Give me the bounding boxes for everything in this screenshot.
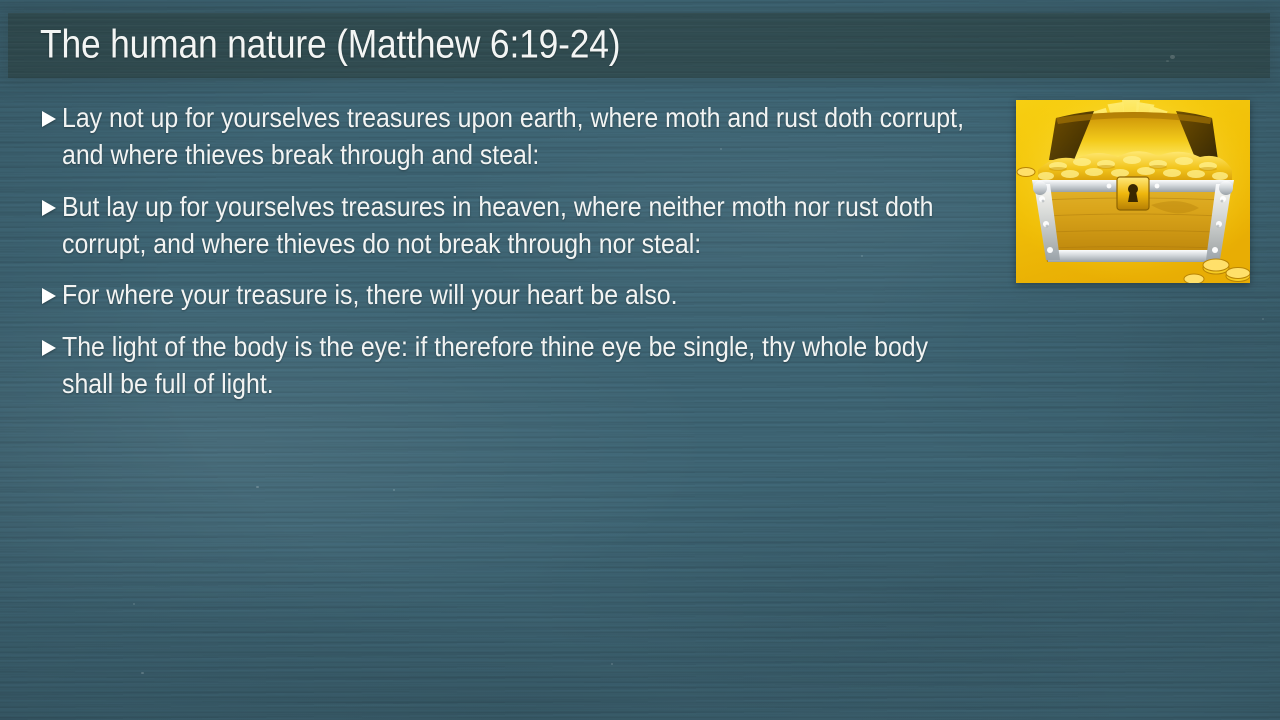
triangle-right-icon: [40, 199, 62, 217]
list-item-text-wrapper: But lay up for yourselves treasures in h…: [62, 189, 984, 263]
list-item-text: Lay not up for yourselves treasures upon…: [62, 100, 984, 174]
texture-speck: [611, 663, 613, 665]
bullet-list: Lay not up for yourselves treasures upon…: [40, 100, 984, 418]
triangle-right-icon: [40, 339, 62, 357]
treasure-chest-image: [1016, 100, 1250, 283]
triangle-right-icon: [40, 287, 62, 305]
page-title-text: The human nature (Matthew 6:19-24): [40, 22, 620, 67]
list-item: For where your treasure is, there will y…: [40, 277, 984, 314]
list-item-text-wrapper: Lay not up for yourselves treasures upon…: [62, 100, 984, 174]
texture-speck: [133, 603, 135, 605]
texture-speck: [1262, 318, 1264, 320]
list-item-text: The light of the body is the eye: if the…: [62, 329, 984, 403]
texture-speck: [141, 672, 144, 674]
presentation-slide: The human nature (Matthew 6:19-24) Lay n…: [0, 0, 1280, 720]
list-item-text: But lay up for yourselves treasures in h…: [62, 189, 984, 263]
list-item: The light of the body is the eye: if the…: [40, 329, 984, 403]
title-bar: The human nature (Matthew 6:19-24): [8, 13, 1270, 78]
texture-speck: [393, 489, 395, 491]
list-item: But lay up for yourselves treasures in h…: [40, 189, 984, 263]
triangle-right-icon: [40, 110, 62, 128]
list-item-text-wrapper: For where your treasure is, there will y…: [62, 277, 984, 314]
list-item: Lay not up for yourselves treasures upon…: [40, 100, 984, 174]
page-title: The human nature (Matthew 6:19-24): [40, 22, 696, 67]
texture-speck: [256, 486, 259, 488]
list-item-text-wrapper: The light of the body is the eye: if the…: [62, 329, 984, 403]
list-item-text: For where your treasure is, there will y…: [62, 277, 984, 314]
